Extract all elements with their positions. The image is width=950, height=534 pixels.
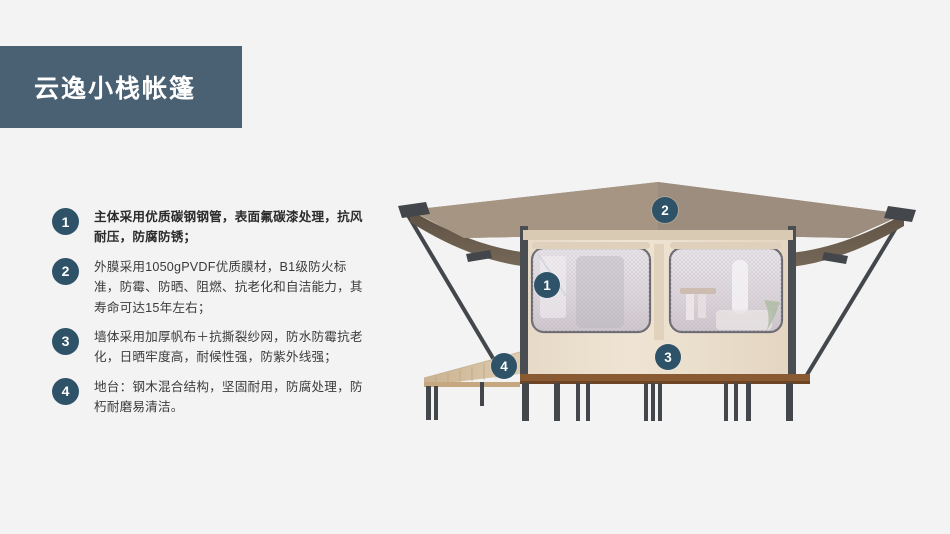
feature-item-4: 4 地台：钢木混合结构，坚固耐用，防腐处理，防朽耐磨易清洁。	[52, 377, 372, 418]
feature-badge-4: 4	[52, 378, 79, 405]
window-right	[670, 248, 782, 332]
right-corner-post	[788, 226, 796, 382]
slide-canvas: 云逸小栈帐篷 1 主体采用优质碳钢钢管，表面氟碳漆处理，抗风耐压，防腐防锈； 2…	[0, 0, 950, 534]
image-callout-1[interactable]: 1	[534, 272, 560, 298]
image-callout-3[interactable]: 3	[655, 344, 681, 370]
interior-bed	[716, 310, 772, 330]
title-banner: 云逸小栈帐篷	[0, 46, 242, 128]
feature-badge-2: 2	[52, 258, 79, 285]
window-valance-right	[670, 242, 782, 249]
left-corner-post	[520, 226, 528, 382]
interior-rack	[680, 288, 716, 294]
roof-ridge-right	[658, 182, 904, 238]
feature-item-2: 2 外膜采用1050gPVDF优质膜材，B1级防火标准，防霉、防晒、阻燃、抗老化…	[52, 257, 372, 318]
feature-list: 1 主体采用优质碳钢钢管，表面氟碳漆处理，抗风耐压，防腐防锈； 2 外膜采用10…	[52, 207, 372, 427]
feature-item-3: 3 墙体采用加厚帆布＋抗撕裂纱网，防水防霉抗老化，日晒牢度高，耐候性强，防紫外线…	[52, 327, 372, 368]
feature-text-1: 主体采用优质碳钢钢管，表面氟碳漆处理，抗风耐压，防腐防锈；	[94, 207, 372, 248]
feature-text-3: 墙体采用加厚帆布＋抗撕裂纱网，防水防霉抗老化，日晒牢度高，耐候性强，防紫外线强；	[94, 327, 372, 368]
page-title: 云逸小栈帐篷	[0, 69, 196, 105]
feature-item-1: 1 主体采用优质碳钢钢管，表面氟碳漆处理，抗风耐压，防腐防锈；	[52, 207, 372, 248]
feature-badge-1: 1	[52, 208, 79, 235]
feature-text-4: 地台：钢木混合结构，坚固耐用，防腐处理，防朽耐磨易清洁。	[94, 377, 372, 418]
center-mullion	[654, 244, 664, 340]
support-legs	[426, 382, 793, 421]
image-callout-2[interactable]: 2	[652, 197, 678, 223]
feature-badge-3: 3	[52, 328, 79, 355]
feature-text-2: 外膜采用1050gPVDF优质膜材，B1级防火标准，防霉、防晒、阻燃、抗老化和自…	[94, 257, 372, 318]
platform-edge	[520, 374, 810, 384]
window-valance-left	[532, 242, 650, 249]
image-callout-4[interactable]: 4	[491, 353, 517, 379]
interior-lamp	[732, 260, 748, 314]
